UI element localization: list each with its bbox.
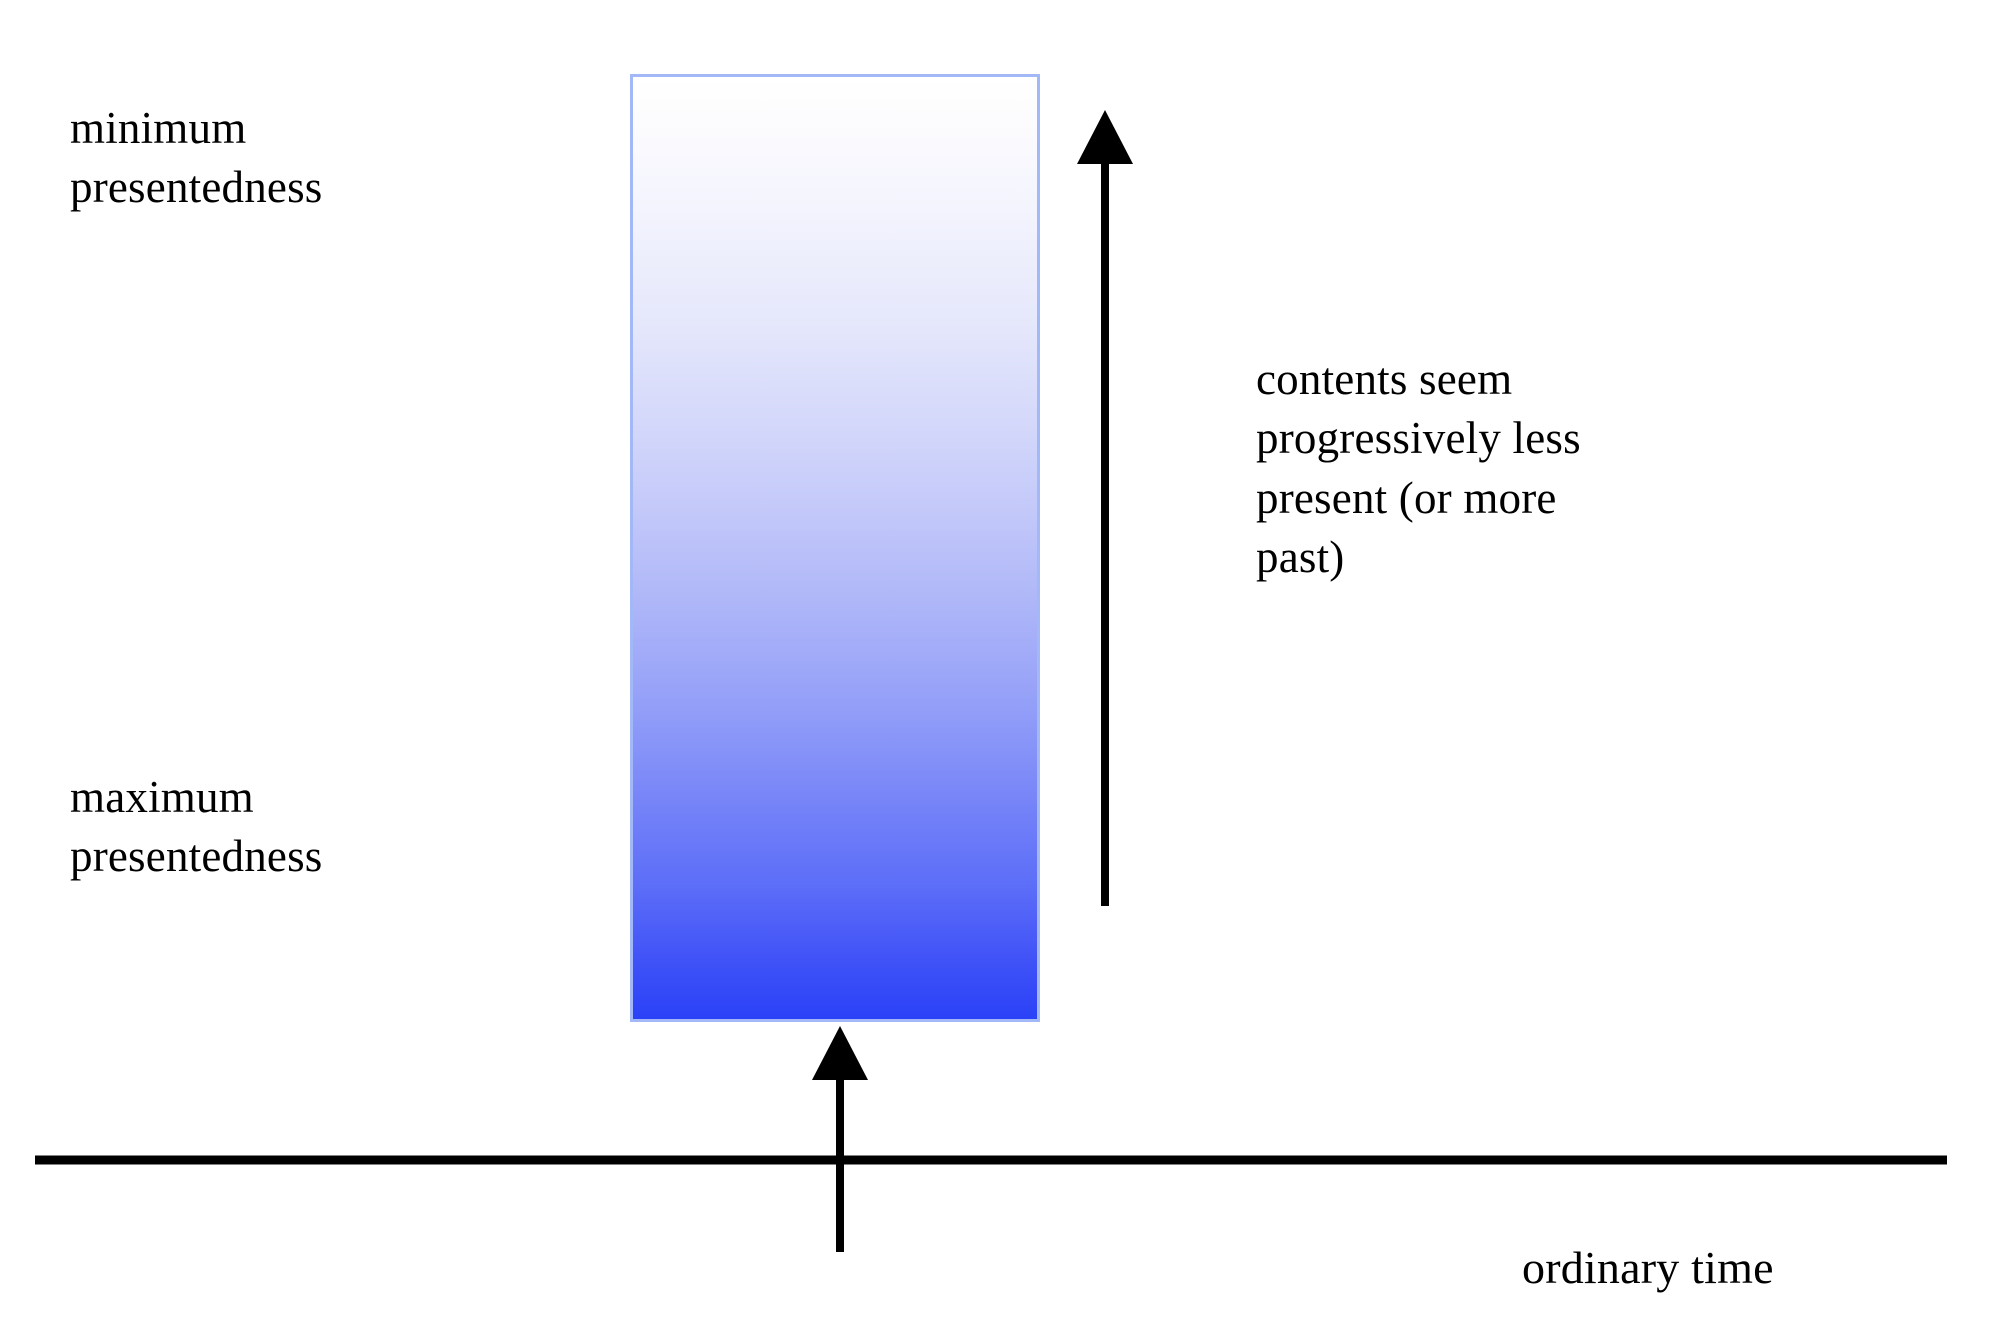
diagram-canvas: minimum presentedness maximum presentedn… — [0, 0, 1992, 1333]
presentedness-direction-arrow — [1077, 110, 1133, 906]
present-moment-marker-arrow — [812, 1026, 868, 1252]
label-minimum-presentedness: minimum presentedness — [70, 99, 530, 216]
label-ordinary-time: ordinary time — [1522, 1238, 1952, 1298]
label-contents-seem-progressively-less-present: contents seem progressively less present… — [1256, 350, 1756, 588]
label-maximum-presentedness: maximum presentedness — [70, 768, 530, 885]
presentedness-gradient-column — [630, 74, 1040, 1022]
presentedness-arrow-head-icon — [1077, 110, 1133, 164]
present-moment-arrow-head-icon — [812, 1026, 868, 1080]
